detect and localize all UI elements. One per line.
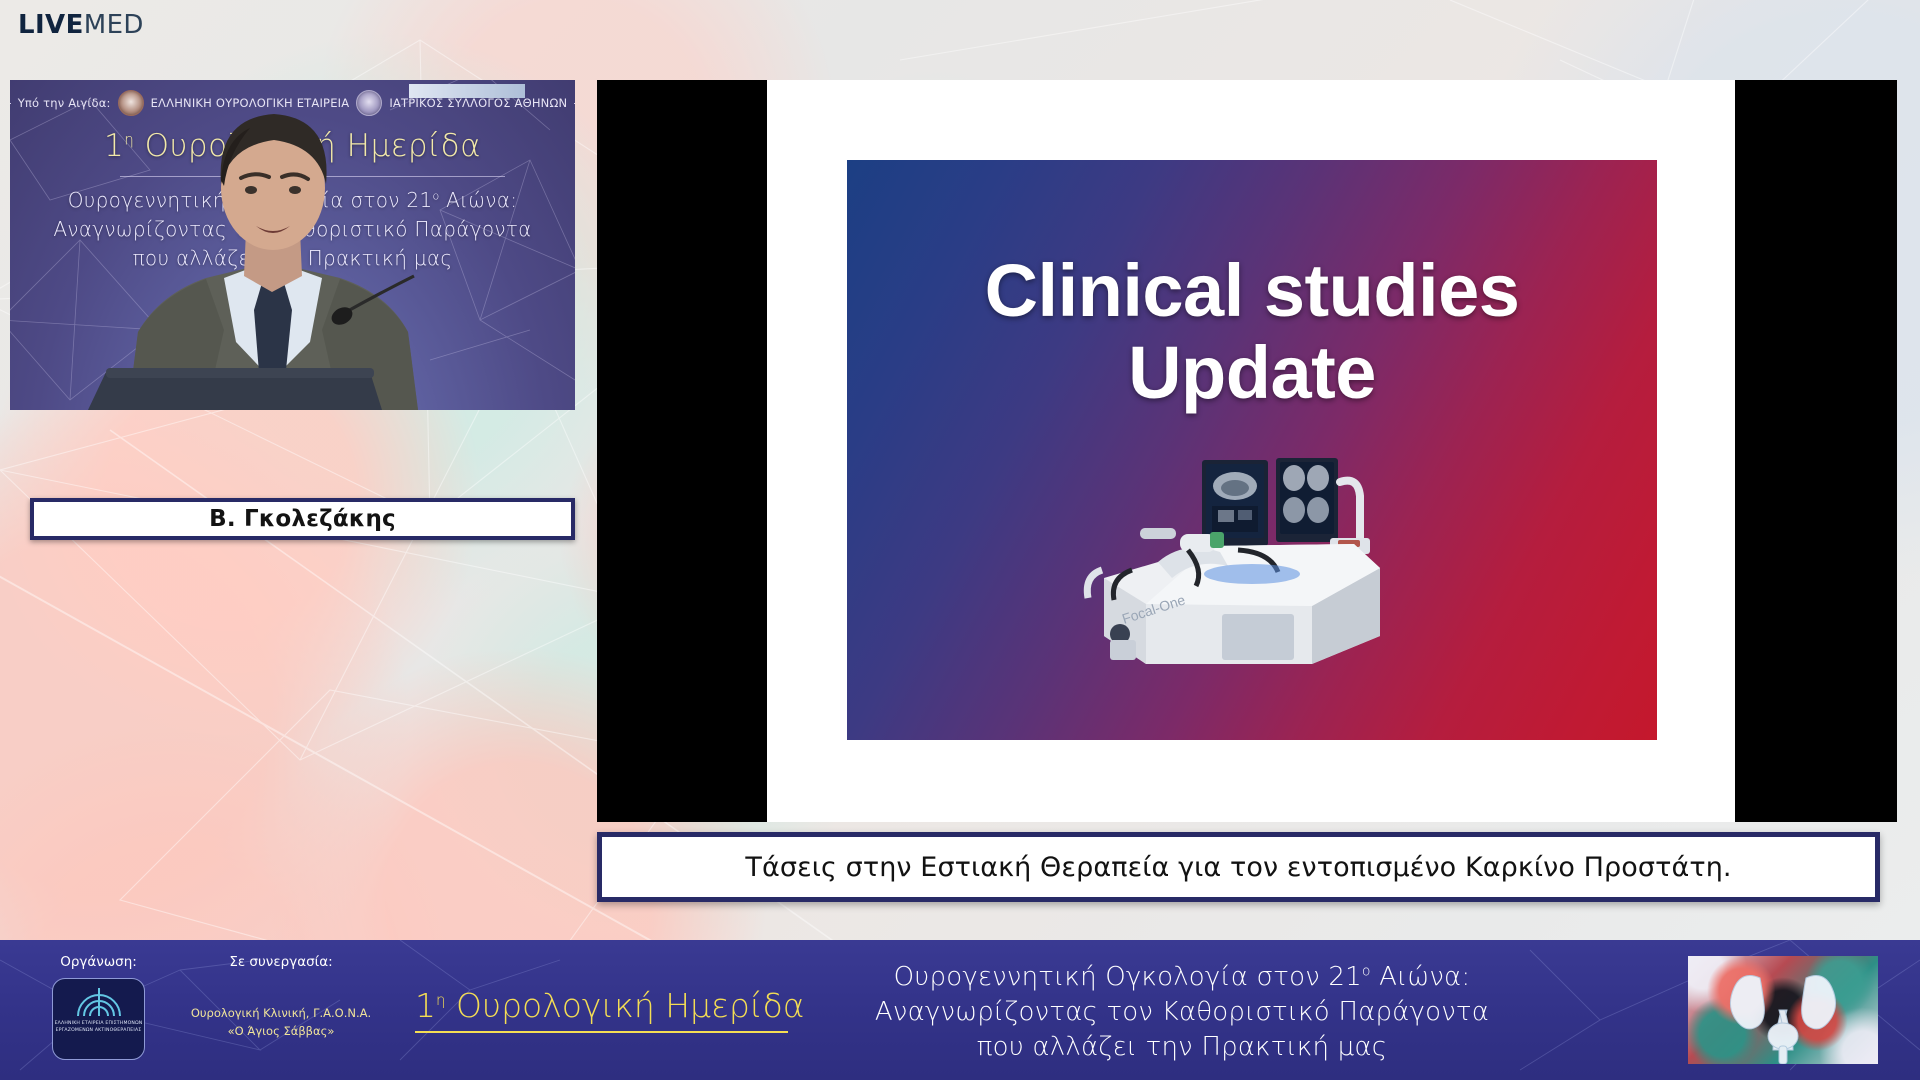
- footer-event-ordinal: η: [436, 991, 446, 1009]
- slide-gradient-image: Clinical studies Update: [847, 160, 1657, 740]
- footer-cooperation-line2: «Ο Άγιος Σάββας»: [186, 1022, 376, 1040]
- footer-title-line1b: Αιώνα:: [1371, 962, 1471, 992]
- slide-heading-line1: Clinical studies: [847, 248, 1657, 333]
- footer-event-number: 1: [415, 986, 436, 1025]
- organizer-logo-text: ΕΛΛΗΝΙΚΗ ΕΤΑΙΡΕΙΑ ΕΠΙΣΤΗΜΟΝΩΝ ΕΡΓΑΖΟΜΕΝΩ…: [53, 1021, 144, 1034]
- footer-organizer-label: Οργάνωση:: [36, 954, 161, 970]
- footer-cooperation-line1: Ουρολογική Κλινική, Γ.Α.Ο.Ν.Α.: [186, 1004, 376, 1022]
- slide-page: Clinical studies Update: [767, 80, 1735, 822]
- footer-cooperation-label: Σε συνεργασία:: [186, 954, 376, 970]
- speaker-figure: [10, 80, 575, 410]
- footer-bar: Οργάνωση: ΕΛΛΗΝΙΚΗ ΕΤΑΙΡΕΙΑ ΕΠΙΣΤΗΜΟΝΩΝ …: [0, 940, 1920, 1080]
- speaker-panel: Υπό την Αιγίδα: ΕΛΛΗΝΙΚΗ ΟΥΡΟΛΟΓΙΚΗ ΕΤΑΙ…: [10, 80, 575, 410]
- radiation-arcs-icon: [72, 984, 126, 1018]
- page-root: LIVEMED Υπό την Αιγίδα:: [0, 0, 1920, 1080]
- footer-title-ordinal: ο: [1362, 963, 1371, 979]
- footer-title-line3: που αλλάζει την Πρακτική μας: [977, 1032, 1387, 1062]
- livemed-logo: LIVEMED: [18, 12, 144, 38]
- footer-event-name: 1η Ουρολογική Ημερίδα: [415, 986, 800, 1033]
- footer-cooperation: Σε συνεργασία: Ουρολογική Κλινική, Γ.Α.Ο…: [186, 954, 376, 1041]
- footer-congress-title: Ουρογεννητική Ογκολογία στον 21ο Αιώνα: …: [812, 960, 1552, 1065]
- footer-event-rule: [415, 1031, 788, 1033]
- footer-title-line1a: Ουρογεννητική Ογκολογία στον 21: [894, 962, 1362, 992]
- footer-organizer: Οργάνωση: ΕΛΛΗΝΙΚΗ ΕΤΑΙΡΕΙΑ ΕΠΙΣΤΗΜΟΝΩΝ …: [36, 954, 161, 1060]
- session-caption-bar: Τάσεις στην Εστιακή Θεραπεία για τον εντ…: [597, 832, 1880, 902]
- organizer-logo-icon: ΕΛΛΗΝΙΚΗ ΕΤΑΙΡΕΙΑ ΕΠΙΣΤΗΜΟΝΩΝ ΕΡΓΑΖΟΜΕΝΩ…: [52, 978, 145, 1060]
- slide-heading-line2: Update: [847, 330, 1657, 415]
- speaker-video-feed[interactable]: Υπό την Αιγίδα: ΕΛΛΗΝΙΚΗ ΟΥΡΟΛΟΓΙΚΗ ΕΤΑΙ…: [10, 80, 575, 410]
- slide-stage[interactable]: Clinical studies Update: [597, 80, 1897, 822]
- footer-event-label: Ουρολογική Ημερίδα: [446, 986, 805, 1025]
- speaker-name-text: Β. Γκολεζάκης: [209, 506, 396, 532]
- brand-med: MED: [84, 10, 144, 40]
- footer-title-line2: Αναγνωρίζοντας τον Καθοριστικό Παράγοντα: [875, 997, 1489, 1027]
- focal-one-device-illustration: Focal-One: [1062, 458, 1442, 708]
- speaker-name-plate: Β. Γκολεζάκης: [30, 498, 575, 540]
- session-caption-text: Τάσεις στην Εστιακή Θεραπεία για τον εντ…: [745, 852, 1731, 883]
- brand-live: LIVE: [18, 10, 84, 40]
- kidneys-bladder-icon: [1688, 956, 1878, 1064]
- urinary-tract-illustration: [1688, 956, 1878, 1064]
